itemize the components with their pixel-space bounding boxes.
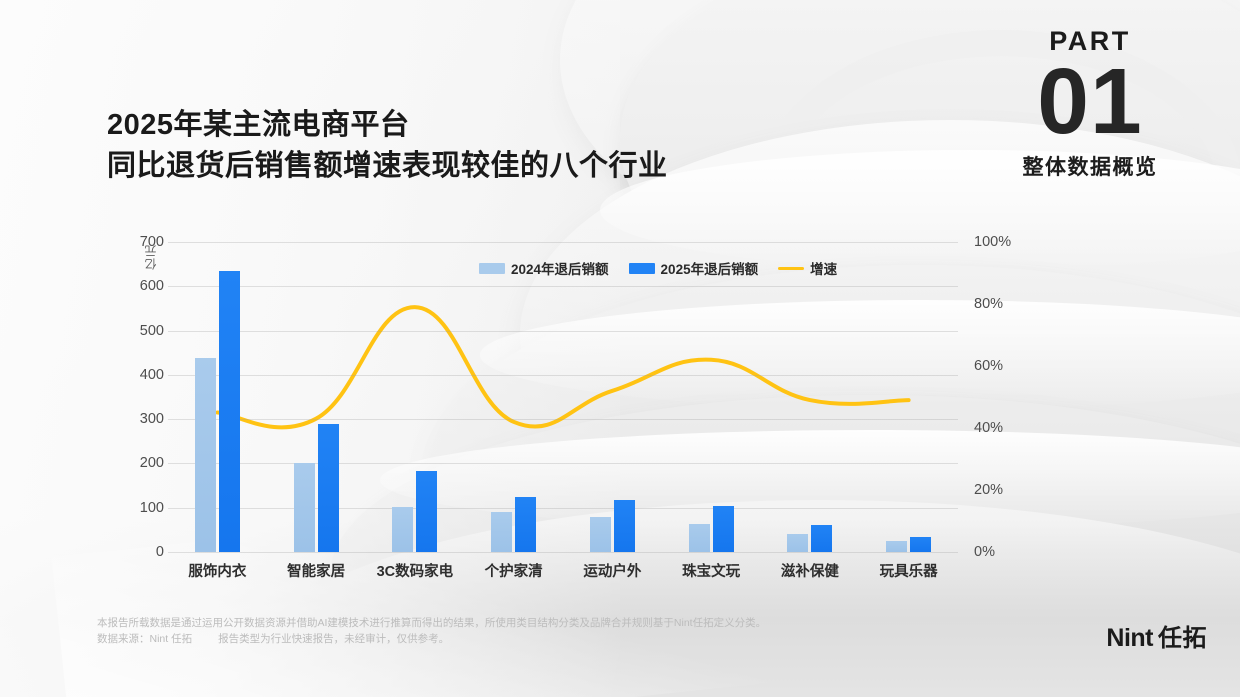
y-axis-tick: 0 [104,544,164,560]
chart-plot-area: 亿元 01002003004005006007000%20%40%60%80%1… [168,242,958,552]
x-axis-label: 滋补保健 [781,560,839,581]
page-title: 2025年某主流电商平台 同比退货后销售额增速表现较佳的八个行业 [107,105,668,187]
chart-bar[interactable] [713,506,734,552]
chart-bar[interactable] [787,534,808,552]
growth-line-path [217,307,908,427]
chart-bar[interactable] [294,463,315,552]
chart-bar[interactable] [491,512,512,552]
nint-logo: Nint 任拓 [1106,618,1207,653]
part-subtitle: 整体数据概览 [970,151,1210,181]
y2-axis-tick: 80% [974,296,1044,312]
chart-gridline [168,242,958,243]
chart-gridline [168,286,958,287]
x-axis-label: 3C数码家电 [377,560,454,581]
footer-report-type: 报告类型为行业快速报告，未经审计，仅供参考。 [218,633,449,645]
x-axis-label: 智能家居 [287,560,345,581]
y-axis-tick: 400 [104,367,164,383]
y2-axis-tick: 20% [974,482,1044,498]
chart-bar[interactable] [195,358,216,552]
y-axis-tick: 600 [104,278,164,294]
part-number: 01 [970,57,1210,145]
chart-bar[interactable] [689,524,710,552]
x-axis-label: 玩具乐器 [880,560,938,581]
y-axis-tick: 500 [104,323,164,339]
y-axis-tick: 200 [104,455,164,471]
chart-bar[interactable] [910,537,931,552]
chart-bar[interactable] [811,525,832,552]
chart-gridline [168,331,958,332]
y2-axis-tick: 0% [974,544,1044,560]
y-axis-tick: 700 [104,234,164,250]
x-axis-label: 运动户外 [583,560,641,581]
chart-bar[interactable] [416,471,437,552]
y2-axis-tick: 100% [974,234,1044,250]
x-axis-label: 个护家清 [485,560,543,581]
x-axis-label: 珠宝文玩 [682,560,740,581]
chart-gridline [168,552,958,553]
chart-bar[interactable] [318,424,339,552]
part-block: PART 01 整体数据概览 [970,28,1210,181]
y-axis-tick: 100 [104,500,164,516]
logo-text-cn: 任拓 [1158,618,1207,653]
slide-canvas: PART 01 整体数据概览 2025年某主流电商平台 同比退货后销售额增速表现… [0,0,1240,697]
y2-axis-tick: 40% [974,420,1044,436]
chart-bar[interactable] [515,497,536,552]
chart-gridline [168,419,958,420]
chart-bar[interactable] [886,541,907,552]
chart-bar[interactable] [614,500,635,552]
y-axis-tick: 300 [104,411,164,427]
chart-container: 亿元 01002003004005006007000%20%40%60%80%1… [72,228,1002,558]
x-axis-label: 服饰内衣 [188,560,246,581]
chart-gridline [168,508,958,509]
chart-gridline [168,375,958,376]
page-title-line1: 2025年某主流电商平台 [107,105,668,146]
logo-text-en: Nint [1106,624,1153,653]
chart-bar[interactable] [392,507,413,552]
growth-line-series [168,242,958,552]
footer-line-2: 数据来源：Nint 任拓报告类型为行业快速报告，未经审计，仅供参考。 [97,631,927,647]
footer-source: 数据来源：Nint 任拓 [97,633,192,645]
footer-line-1: 本报告所载数据是通过运用公开数据资源并借助AI建模技术进行推算而得出的结果，所使… [97,615,927,631]
page-title-line2: 同比退货后销售额增速表现较佳的八个行业 [107,146,668,187]
y2-axis-tick: 60% [974,358,1044,374]
chart-gridline [168,463,958,464]
footer-notes: 本报告所载数据是通过运用公开数据资源并借助AI建模技术进行推算而得出的结果，所使… [97,615,927,648]
chart-bar[interactable] [590,517,611,552]
chart-bar[interactable] [219,271,240,552]
